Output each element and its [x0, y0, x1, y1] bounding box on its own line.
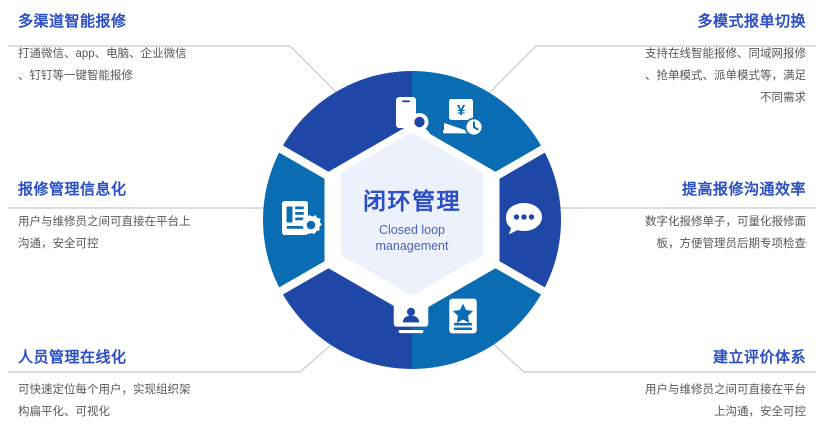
- certificate-star-icon: [449, 299, 477, 334]
- feature-block-bottom-right: 建立评价体系 用户与维修员之间可直接在平台上沟通，安全可控: [556, 348, 806, 423]
- feature-title: 多渠道智能报修: [18, 12, 268, 32]
- feature-title: 建立评价体系: [556, 348, 806, 368]
- feature-block-top-left: 多渠道智能报修 打通微信、app、电脑、企业微信、钉钉等一键智能报修: [18, 12, 268, 87]
- feature-title: 报修管理信息化: [18, 180, 268, 200]
- feature-block-middle-left: 报修管理信息化 用户与维修员之间可直接在平台上沟通，安全可控: [18, 180, 268, 255]
- feature-desc: 打通微信、app、电脑、企业微信、钉钉等一键智能报修: [18, 43, 268, 87]
- feature-desc: 可快速定位每个用户，实现组织架构扁平化、可视化: [18, 379, 268, 423]
- closed-loop-wheel: ¥: [262, 70, 562, 370]
- feature-title: 人员管理在线化: [18, 348, 268, 368]
- feature-desc: 数字化报修单子，可量化报修面板，方便管理员后期专项检查: [556, 211, 806, 255]
- feature-desc: 支持在线智能报修、同域网报修、抢单模式、派单模式等，满足不同需求: [556, 43, 806, 109]
- feature-block-middle-right: 提高报修沟通效率 数字化报修单子，可量化报修面板，方便管理员后期专项检查: [556, 180, 806, 255]
- feature-title: 提高报修沟通效率: [556, 180, 806, 200]
- feature-desc: 用户与维修员之间可直接在平台上沟通，安全可控: [556, 379, 806, 423]
- feature-block-top-right: 多模式报单切换 支持在线智能报修、同域网报修、抢单模式、派单模式等，满足不同需求: [556, 12, 806, 109]
- feature-desc: 用户与维修员之间可直接在平台上沟通，安全可控: [18, 211, 268, 255]
- infographic-canvas: ¥: [0, 0, 824, 441]
- feature-title: 多模式报单切换: [556, 12, 806, 32]
- feature-block-bottom-left: 人员管理在线化 可快速定位每个用户，实现组织架构扁平化、可视化: [18, 348, 268, 423]
